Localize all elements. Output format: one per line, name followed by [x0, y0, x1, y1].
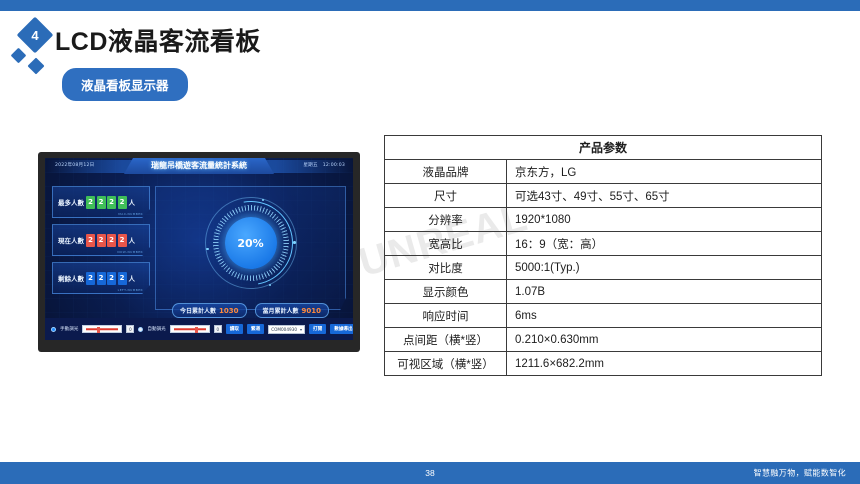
- table-row: 宽高比 16：9（宽：高）: [385, 232, 822, 256]
- write-button[interactable]: 繁遒: [247, 324, 264, 334]
- total-chip-month: 當月累計人數 9010: [255, 303, 330, 318]
- counter-card-max: 最多人數 2 2 2 2 人 MAX-NUMBER: [52, 186, 150, 218]
- screen-weekday: 星期五: [303, 163, 317, 168]
- digit: 2: [107, 196, 116, 209]
- counter-deco-text: MAX-NUMBER: [118, 212, 143, 216]
- screen-header: 2022年08月12日 瑞龍吊橋遊客流量統計系統 星期五 12:00:03: [45, 158, 353, 178]
- table-header-row: 产品参数: [385, 136, 822, 160]
- spec-value: 1.07B: [507, 280, 822, 304]
- spec-key: 响应时间: [385, 304, 507, 328]
- spec-key: 分辨率: [385, 208, 507, 232]
- diamond-small-2: [28, 58, 45, 75]
- gauge-dot: [293, 241, 296, 244]
- counter-digits: 2 2 2 2: [86, 196, 127, 209]
- serial-port-select[interactable]: COM004930 ▾: [268, 325, 305, 334]
- counter-label: 現在人數: [58, 235, 84, 245]
- diamond-small-1: [11, 48, 27, 64]
- table-row: 点间距（横*竖） 0.210×0.630mm: [385, 328, 822, 352]
- gauge-dot: [262, 199, 265, 202]
- gauge-center-disc: 20%: [225, 217, 277, 269]
- total-value: 1030: [219, 307, 238, 315]
- spec-key: 宽高比: [385, 232, 507, 256]
- table-row: 响应时间 6ms: [385, 304, 822, 328]
- slider-track: [86, 328, 118, 330]
- serial-port-value: COM004930: [271, 327, 297, 332]
- digit: 2: [97, 272, 106, 285]
- lcd-screen: 2022年08月12日 瑞龍吊橋遊客流量統計系統 星期五 12:00:03 最多…: [45, 158, 353, 340]
- digit: 2: [118, 196, 127, 209]
- digit: 2: [107, 234, 116, 247]
- spec-key: 液晶品牌: [385, 160, 507, 184]
- spec-value: 1920*1080: [507, 208, 822, 232]
- digit: 2: [118, 272, 127, 285]
- gauge-panel: 20%: [155, 186, 346, 310]
- spec-key: 可视区域（横*竖）: [385, 352, 507, 376]
- screen-clock: 星期五 12:00:03: [303, 162, 345, 168]
- counter-unit: 人: [129, 273, 136, 283]
- total-chip-today: 今日累計人數 1030: [172, 303, 247, 318]
- counter-card-remaining: 剩餘人數 2 2 2 2 人 LEFT-NUMBER: [52, 262, 150, 294]
- slider-knob[interactable]: [97, 327, 100, 333]
- counter-card-list: 最多人數 2 2 2 2 人 MAX-NUMBER 現在人數 2 2: [52, 186, 150, 300]
- open-port-button[interactable]: 打開: [309, 324, 326, 334]
- counter-deco-text: LEFT-NUMBER: [118, 288, 143, 292]
- spec-value: 可选43寸、49寸、55寸、65寸: [507, 184, 822, 208]
- top-accent-bar: [0, 0, 860, 11]
- spec-key: 尺寸: [385, 184, 507, 208]
- table-row: 液晶品牌 京东方，LG: [385, 160, 822, 184]
- counter-digits: 2 2 2 2: [86, 234, 127, 247]
- total-chip-row: 今日累計人數 1030 當月累計人數 9010: [157, 303, 344, 318]
- total-label: 當月累計人數: [263, 306, 299, 315]
- counter-digits: 2 2 2 2: [86, 272, 127, 285]
- auto-dimming-radio[interactable]: [138, 327, 143, 332]
- diamond-badge-cluster: 4: [10, 16, 56, 76]
- spec-table-title: 产品参数: [385, 136, 822, 160]
- spec-key: 点间距（横*竖）: [385, 328, 507, 352]
- counter-label: 剩餘人數: [58, 273, 84, 283]
- counter-unit: 人: [129, 197, 136, 207]
- table-row: 分辨率 1920*1080: [385, 208, 822, 232]
- digit: 2: [86, 196, 95, 209]
- auto-dimming-label: 自動調光: [147, 326, 165, 332]
- manual-dimming-value-box[interactable]: 0: [126, 325, 134, 333]
- slider-knob[interactable]: [195, 327, 198, 333]
- gauge-dot: [269, 284, 272, 287]
- spec-table: 产品参数 液晶品牌 京东方，LG 尺寸 可选43寸、49寸、55寸、65寸 分辨…: [384, 135, 822, 376]
- manual-dimming-label: 手動調光: [60, 326, 78, 332]
- digit: 2: [86, 272, 95, 285]
- manual-dimming-slider[interactable]: [82, 325, 122, 333]
- spec-value: 5000:1(Typ.): [507, 256, 822, 280]
- lcd-monitor-mockup: 2022年08月12日 瑞龍吊橋遊客流量統計系統 星期五 12:00:03 最多…: [38, 152, 360, 352]
- screen-bottom-toolbar: 手動調光 0 自動調光 0 讀取 繁遒 COM004930 ▾: [45, 318, 353, 340]
- counter-label: 最多人數: [58, 197, 84, 207]
- badge-number: 4: [22, 22, 48, 48]
- slide-footer: 38 智慧融万物，赋能数智化: [0, 462, 860, 484]
- occupancy-gauge: 20%: [205, 197, 297, 289]
- counter-card-current: 現在人數 2 2 2 2 人 NOW-NUMBER: [52, 224, 150, 256]
- total-value: 9010: [302, 307, 321, 315]
- screen-time: 12:00:03: [323, 163, 345, 168]
- slider-track: [174, 328, 206, 330]
- spec-value: 16：9（宽：高）: [507, 232, 822, 256]
- screen-title: 瑞龍吊橋遊客流量統計系統: [151, 160, 247, 171]
- spec-key: 对比度: [385, 256, 507, 280]
- digit: 2: [118, 234, 127, 247]
- manual-dimming-radio[interactable]: [51, 327, 56, 332]
- read-button[interactable]: 讀取: [226, 324, 243, 334]
- table-row: 尺寸 可选43寸、49寸、55寸、65寸: [385, 184, 822, 208]
- export-data-button[interactable]: 數據導出 ↻: [330, 324, 353, 334]
- spec-value: 京东方，LG: [507, 160, 822, 184]
- table-row: 可视区域（横*竖） 1211.6×682.2mm: [385, 352, 822, 376]
- auto-dimming-slider[interactable]: [170, 325, 210, 333]
- slide: 4 LCD液晶客流看板 液晶看板显示器 SUNREAL SUNREAL 2022…: [0, 0, 860, 484]
- digit: 2: [97, 234, 106, 247]
- page-title: LCD液晶客流看板: [55, 22, 261, 58]
- spec-value: 1211.6×682.2mm: [507, 352, 822, 376]
- table-row: 对比度 5000:1(Typ.): [385, 256, 822, 280]
- section-pill-button[interactable]: 液晶看板显示器: [62, 68, 188, 101]
- counter-unit: 人: [129, 235, 136, 245]
- spec-value: 0.210×0.630mm: [507, 328, 822, 352]
- page-number: 38: [425, 468, 434, 478]
- digit: 2: [86, 234, 95, 247]
- digit: 2: [97, 196, 106, 209]
- total-label: 今日累計人數: [180, 306, 216, 315]
- chevron-down-icon: ▾: [300, 327, 302, 332]
- gauge-percent-value: 20%: [237, 237, 263, 250]
- counter-deco-text: NOW-NUMBER: [117, 250, 143, 254]
- auto-dimming-value-box[interactable]: 0: [214, 325, 222, 333]
- spec-table-wrapper: 产品参数 液晶品牌 京东方，LG 尺寸 可选43寸、49寸、55寸、65寸 分辨…: [384, 135, 822, 376]
- footer-slogan: 智慧融万物，赋能数智化: [754, 468, 846, 479]
- screen-date: 2022年08月12日: [55, 162, 94, 168]
- table-row: 显示颜色 1.07B: [385, 280, 822, 304]
- spec-value: 6ms: [507, 304, 822, 328]
- spec-key: 显示颜色: [385, 280, 507, 304]
- digit: 2: [107, 272, 116, 285]
